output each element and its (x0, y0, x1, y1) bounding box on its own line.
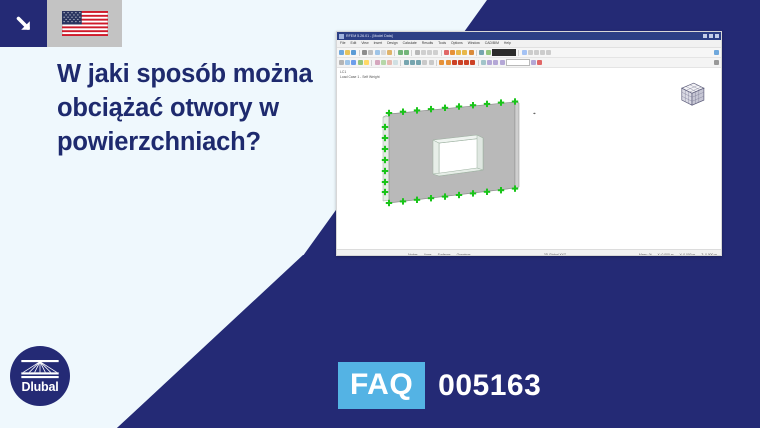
arrow-down-right-icon (12, 12, 36, 36)
support-icon[interactable] (479, 50, 484, 55)
toolbar-separator (476, 50, 477, 56)
delete-icon[interactable] (537, 60, 542, 65)
nodal-load-icon[interactable] (452, 60, 457, 65)
render-icon[interactable] (444, 50, 449, 55)
close-icon[interactable] (715, 34, 719, 38)
thickness-icon[interactable] (381, 60, 386, 65)
us-flag-icon (62, 11, 108, 36)
snap-icon[interactable] (534, 50, 539, 55)
app-titlebar[interactable]: RFEM 5.26.01 - [Model Data] (337, 32, 721, 40)
model-3d-view[interactable]: ⌖ (337, 68, 721, 249)
paste-icon[interactable] (387, 50, 392, 55)
viewport-cursor: ⌖ (533, 111, 536, 117)
scale-icon[interactable] (531, 60, 536, 65)
menu-item-calculate[interactable]: Calculate (403, 40, 417, 47)
menu-item-cadbim[interactable]: CAD/BIM (485, 40, 499, 47)
main-toolbar[interactable] (337, 48, 721, 58)
toolbar-combo-load-case[interactable] (492, 49, 516, 56)
toolbar-separator (441, 50, 442, 56)
nodal-support-icon[interactable] (404, 60, 409, 65)
dlubal-logo[interactable]: Dlubal (10, 346, 70, 406)
surface-load-icon[interactable] (464, 60, 469, 65)
toolbar-separator (394, 50, 395, 56)
copy-icon[interactable] (381, 50, 386, 55)
surface-icon[interactable] (358, 60, 363, 65)
toolbar-separator (436, 60, 437, 66)
language-flag-badge[interactable] (47, 0, 122, 47)
minimize-icon[interactable] (703, 34, 707, 38)
menu-item-window[interactable]: Window (468, 40, 480, 47)
statusbar-x: X: 0.000 m (658, 253, 674, 257)
toolbar-separator (478, 60, 479, 66)
hinge-icon[interactable] (422, 60, 427, 65)
faq-number: 005163 (438, 371, 541, 401)
results-icon[interactable] (486, 50, 491, 55)
shade-icon[interactable] (450, 50, 455, 55)
load-icon[interactable] (469, 50, 474, 55)
statusbar-openings: Openings (457, 253, 471, 257)
menu-item-file[interactable]: File (340, 40, 345, 47)
statusbar-mode: 3D Global XYZ (544, 253, 566, 257)
menu-item-options[interactable]: Options (451, 40, 463, 47)
release-icon[interactable] (429, 60, 434, 65)
line-support-icon[interactable] (410, 60, 415, 65)
app-menubar[interactable]: File Edit View Insert Design Calculate R… (337, 40, 721, 48)
save-icon[interactable] (351, 50, 356, 55)
member-icon[interactable] (351, 60, 356, 65)
page-title-line-1: W jaki sposób można (57, 58, 342, 92)
section-icon[interactable] (393, 60, 398, 65)
statusbar-y: Y: 0.000 m (679, 253, 695, 257)
load-combo-icon[interactable] (446, 60, 451, 65)
toolbar-separator (518, 50, 519, 56)
imperfection-icon[interactable] (481, 60, 486, 65)
copy-mirror-icon[interactable] (487, 60, 492, 65)
menu-item-insert[interactable]: Insert (374, 40, 382, 47)
load-case-icon[interactable] (439, 60, 444, 65)
settings-toolbar-icon[interactable] (714, 60, 719, 65)
zoom-in-icon[interactable] (421, 50, 426, 55)
line-load-icon[interactable] (458, 60, 463, 65)
page-title-line-2: obciążać otwory w (57, 92, 342, 126)
print-icon[interactable] (362, 50, 367, 55)
light-icon[interactable] (462, 50, 467, 55)
preview-icon[interactable] (368, 50, 373, 55)
menu-item-results[interactable]: Results (422, 40, 433, 47)
calc-icon[interactable] (522, 50, 527, 55)
app-icon (339, 34, 344, 39)
dlubal-bridge-icon (20, 358, 60, 380)
opening-icon[interactable] (375, 60, 380, 65)
cut-icon[interactable] (375, 50, 380, 55)
toolbar-separator (411, 50, 412, 56)
app-viewport[interactable]: LC1 Load Case 1 - Self Weight (337, 68, 721, 249)
statusbar-z: Z: 0.000 m (701, 253, 717, 257)
select-icon[interactable] (415, 50, 420, 55)
line-icon[interactable] (345, 60, 350, 65)
move-icon[interactable] (500, 60, 505, 65)
view-cube-icon[interactable] (675, 78, 709, 112)
toolbar-separator (371, 60, 372, 66)
axes-icon[interactable] (546, 50, 551, 55)
modelling-toolbar[interactable] (337, 58, 721, 68)
surface-support-icon[interactable] (416, 60, 421, 65)
page-title: W jaki sposób można obciążać otwory w po… (57, 58, 342, 160)
zoom-out-icon[interactable] (427, 50, 432, 55)
statusbar-lines: Lines (424, 253, 432, 257)
zoom-fit-icon[interactable] (433, 50, 438, 55)
download-arrow-badge[interactable] (0, 0, 47, 47)
software-screenshot-window[interactable]: RFEM 5.26.01 - [Model Data] File Edit Vi… (336, 31, 722, 256)
toolbar-separator (400, 60, 401, 66)
statusbar-mass: Mass: 0t (639, 253, 651, 257)
slide-canvas: W jaki sposób można obciążać otwory w po… (0, 0, 760, 428)
faq-strip: FAQ 005163 (338, 362, 541, 409)
solid-icon[interactable] (364, 60, 369, 65)
rotate-icon[interactable] (493, 60, 498, 65)
modelling-combo[interactable] (506, 59, 530, 66)
faq-badge: FAQ (338, 362, 425, 409)
open-icon[interactable] (345, 50, 350, 55)
statusbar-nodes: Nodes (408, 253, 418, 257)
menu-item-edit[interactable]: Edit (350, 40, 356, 47)
statusbar-surfaces: Surfaces (438, 253, 451, 257)
redo-icon[interactable] (404, 50, 409, 55)
window-controls[interactable] (703, 34, 719, 38)
grid-icon[interactable] (540, 50, 545, 55)
measure-icon[interactable] (528, 50, 533, 55)
page-title-line-3: powierzchniach? (57, 126, 342, 160)
free-load-icon[interactable] (470, 60, 475, 65)
svg-text:⌖: ⌖ (533, 111, 536, 117)
help-toolbar-icon[interactable] (714, 50, 719, 55)
maximize-icon[interactable] (709, 34, 713, 38)
wire-icon[interactable] (456, 50, 461, 55)
dlubal-logo-text: Dlubal (22, 381, 59, 394)
app-window-title: RFEM 5.26.01 - [Model Data] (346, 34, 393, 39)
menu-item-design[interactable]: Design (387, 40, 398, 47)
menu-item-help[interactable]: Help (504, 40, 511, 47)
new-icon[interactable] (339, 50, 344, 55)
menu-item-view[interactable]: View (361, 40, 368, 47)
toolbar-separator (359, 50, 360, 56)
app-statusbar: Nodes Lines Surfaces Openings 3D Global … (337, 249, 721, 256)
undo-icon[interactable] (398, 50, 403, 55)
material-icon[interactable] (387, 60, 392, 65)
menu-item-tools[interactable]: Tools (438, 40, 446, 47)
